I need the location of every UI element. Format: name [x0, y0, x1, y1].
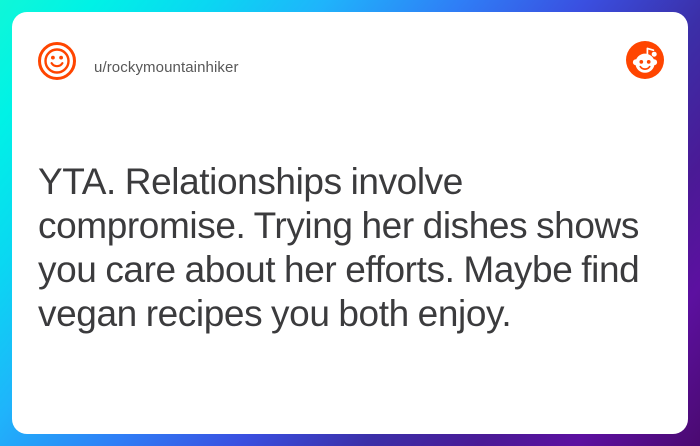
quote-card: u/rockymountainhiker YTA. Relationships …: [12, 12, 688, 434]
username-label: u/rockymountainhiker: [94, 58, 239, 78]
gradient-background: u/rockymountainhiker YTA. Relationships …: [0, 0, 700, 446]
card-header: u/rockymountainhiker: [12, 12, 688, 98]
reddit-snoo-logo-icon: [625, 40, 665, 80]
quote-text: YTA. Relationships involve compromise. T…: [38, 160, 664, 336]
smiley-face-avatar-icon: [37, 41, 77, 81]
